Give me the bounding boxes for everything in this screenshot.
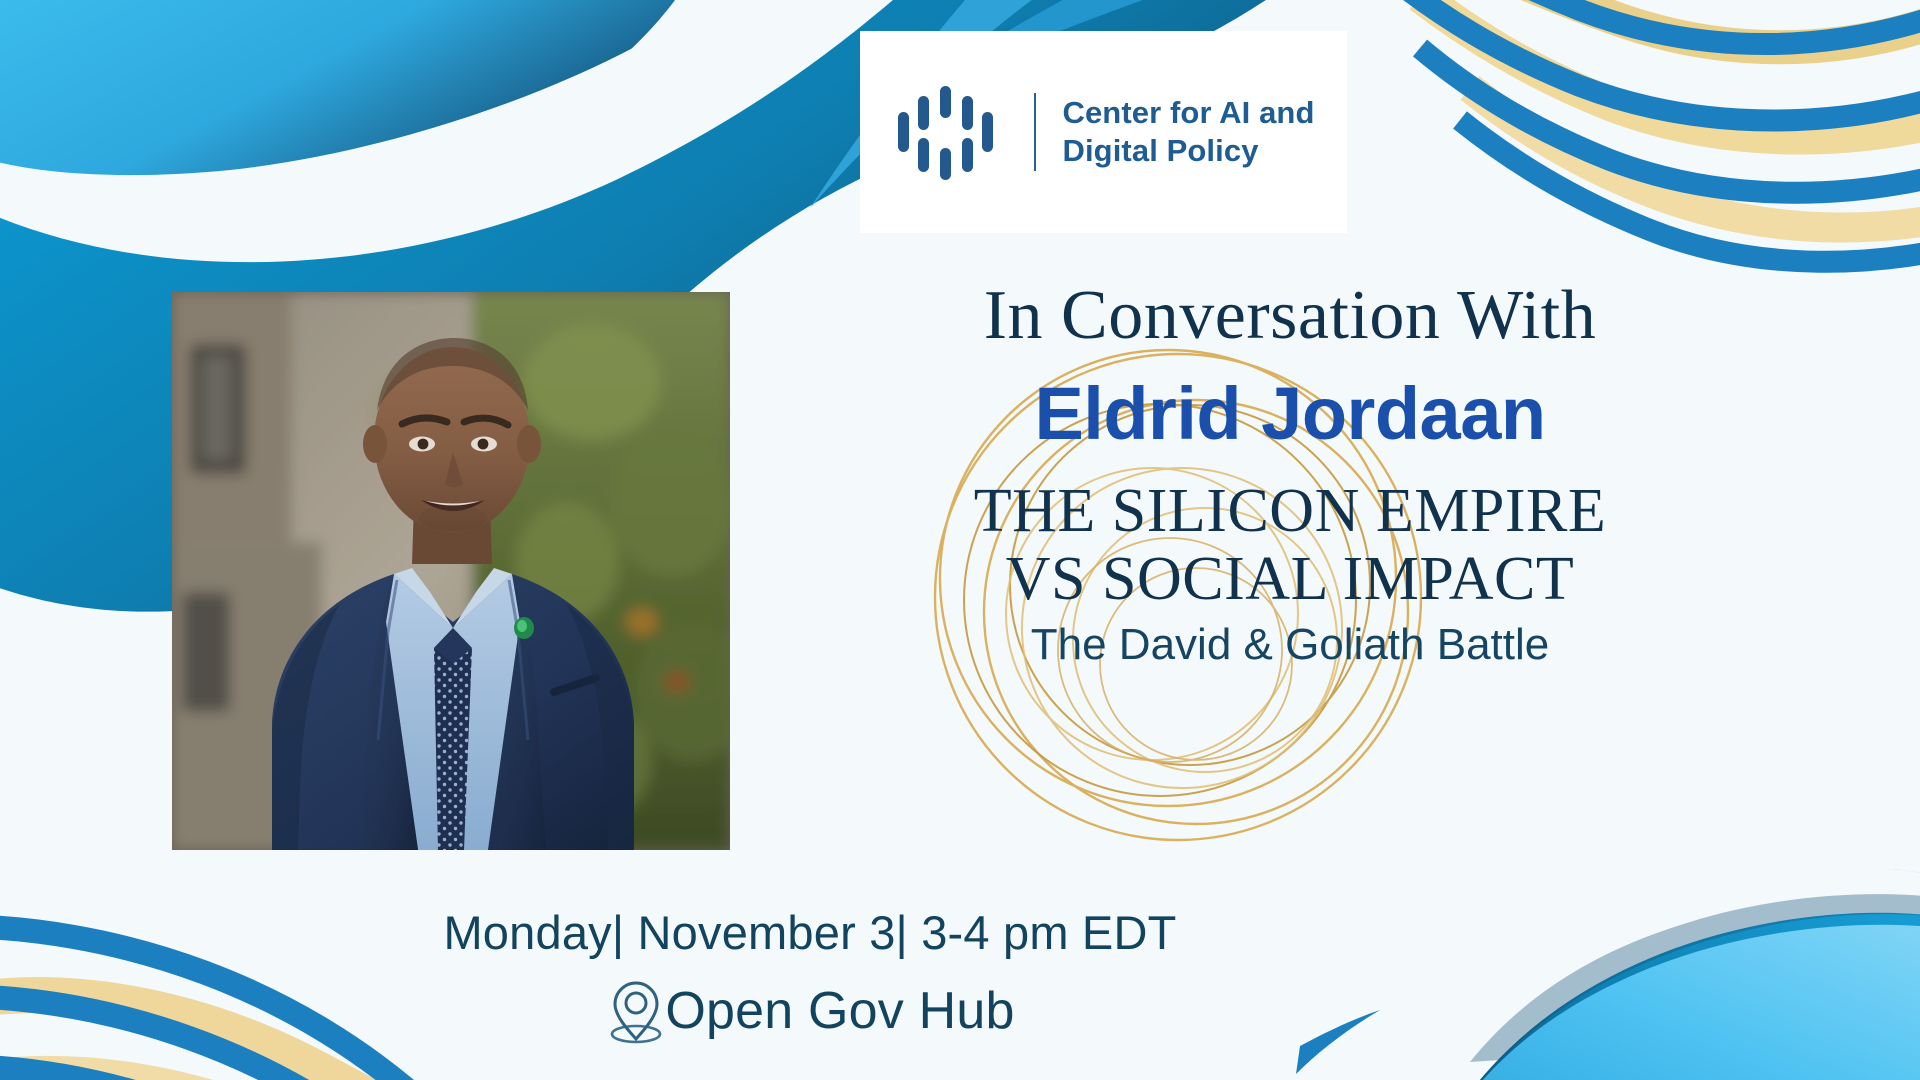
logo-divider <box>1034 93 1036 171</box>
talk-title: THE SILICON EMPIRE VS SOCIAL IMPACT <box>760 477 1820 613</box>
event-poster: Center for AI and Digital Policy <box>0 0 1920 1080</box>
speaker-portrait-photo <box>172 292 730 850</box>
speaker-portrait <box>172 292 730 850</box>
location-label: Open Gov Hub <box>665 981 1014 1041</box>
event-datetime: Monday| November 3| 3-4 pm EDT <box>300 905 1320 960</box>
talk-subtitle: The David & Goliath Battle <box>760 619 1820 672</box>
talk-title-line1: THE SILICON EMPIRE <box>760 477 1820 545</box>
event-footer: Monday| November 3| 3-4 pm EDT Open Gov … <box>300 905 1320 1046</box>
logo-text-line2: Digital Policy <box>1062 132 1314 170</box>
caidp-dots-logo-icon <box>892 72 1012 192</box>
event-location: Open Gov Hub <box>300 976 1320 1046</box>
event-text-column: In Conversation With Eldrid Jordaan THE … <box>760 278 1820 672</box>
logo-text-line1: Center for AI and <box>1062 94 1314 132</box>
organization-name: Center for AI and Digital Policy <box>1062 94 1314 170</box>
talk-title-line2: VS SOCIAL IMPACT <box>760 545 1820 613</box>
organization-logo-card: Center for AI and Digital Policy <box>860 31 1347 233</box>
speaker-name: Eldrid Jordaan <box>760 370 1820 457</box>
map-pin-icon <box>605 976 667 1046</box>
page-title: In Conversation With <box>760 278 1820 354</box>
